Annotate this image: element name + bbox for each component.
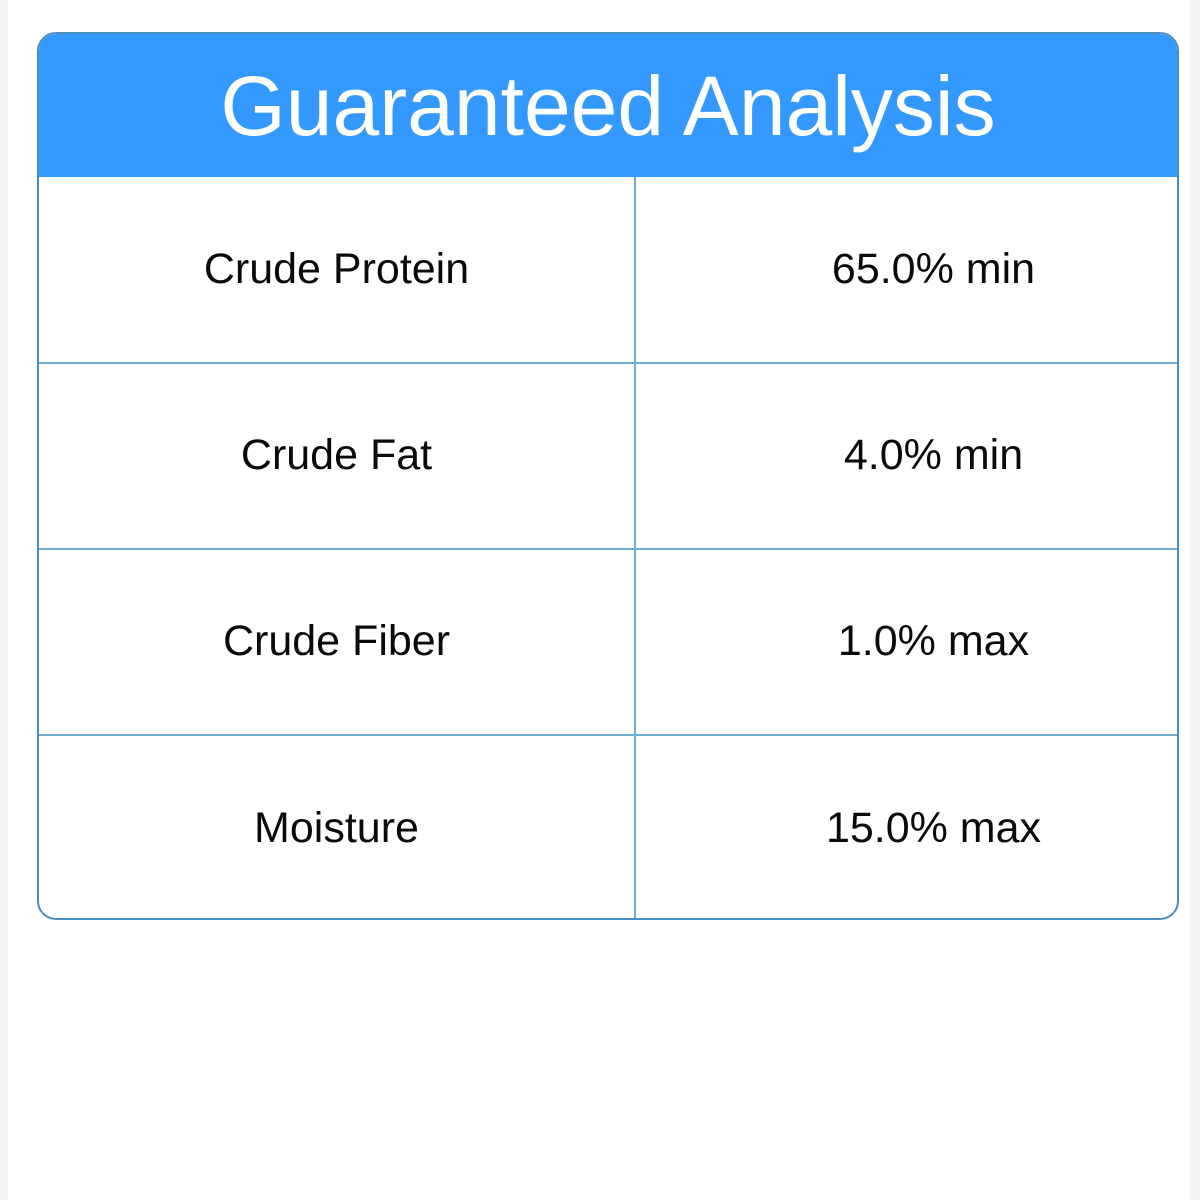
nutrient-label-crude-protein: Crude Protein <box>39 177 635 363</box>
page-canvas: Guaranteed Analysis Crude Protein 65.0% … <box>8 0 1190 1200</box>
table-row: Crude Protein 65.0% min <box>39 177 1179 363</box>
table-row: Moisture 15.0% max <box>39 735 1179 920</box>
nutrient-value-crude-fat: 4.0% min <box>635 363 1179 549</box>
guaranteed-analysis-table: Crude Protein 65.0% min Crude Fat 4.0% m… <box>39 177 1179 920</box>
nutrient-value-moisture: 15.0% max <box>635 735 1179 920</box>
nutrient-label-crude-fat: Crude Fat <box>39 363 635 549</box>
card-header: Guaranteed Analysis <box>39 34 1177 177</box>
nutrient-value-crude-protein: 65.0% min <box>635 177 1179 363</box>
nutrient-label-crude-fiber: Crude Fiber <box>39 549 635 735</box>
table-row: Crude Fat 4.0% min <box>39 363 1179 549</box>
guaranteed-analysis-card: Guaranteed Analysis Crude Protein 65.0% … <box>37 32 1179 920</box>
nutrient-label-moisture: Moisture <box>39 735 635 920</box>
page-title: Guaranteed Analysis <box>220 64 995 148</box>
nutrient-value-crude-fiber: 1.0% max <box>635 549 1179 735</box>
table-row: Crude Fiber 1.0% max <box>39 549 1179 735</box>
table-body: Crude Protein 65.0% min Crude Fat 4.0% m… <box>39 177 1179 920</box>
